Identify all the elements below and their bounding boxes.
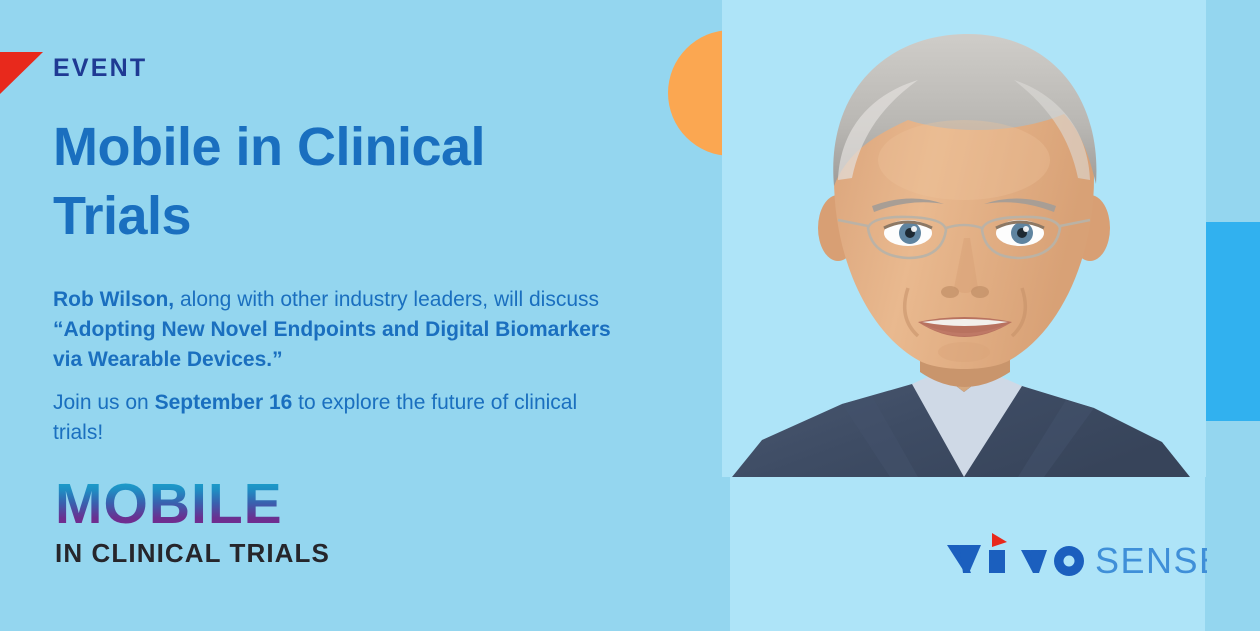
event-date: September 16 (155, 391, 293, 414)
red-corner-triangle-icon (0, 52, 43, 94)
page-title: Mobile in Clinical Trials (53, 113, 613, 251)
session-title-quote: “Adopting New Novel Endpoints and Digita… (53, 318, 611, 371)
join-us-prefix: Join us on (53, 391, 155, 414)
vivo-mark (937, 545, 1084, 576)
text-content-column: EVENT Mobile in Clinical Trials Rob Wils… (53, 0, 673, 631)
event-eyebrow-label: EVENT (53, 54, 147, 83)
brand-name-text: SENSE (1095, 540, 1207, 581)
mobile-logo-wordmark: MOBILE (55, 476, 283, 533)
red-flag-accent-icon (992, 533, 1007, 547)
vivosense-logo: SENSE (935, 533, 1207, 585)
event-date-paragraph: Join us on September 16 to explore the f… (53, 388, 613, 448)
event-promo-banner: EVENT Mobile in Clinical Trials Rob Wils… (0, 0, 1260, 631)
speaker-headshot-photo (722, 0, 1206, 477)
speaker-name: Rob Wilson, (53, 288, 174, 311)
mobile-in-clinical-trials-logo: MOBILE IN CLINICAL TRIALS (55, 476, 330, 566)
speaker-description-paragraph: Rob Wilson, along with other industry le… (53, 285, 613, 374)
mobile-logo-subtitle: IN CLINICAL TRIALS (55, 540, 330, 566)
speaker-description-mid: along with other industry leaders, will … (174, 288, 599, 311)
